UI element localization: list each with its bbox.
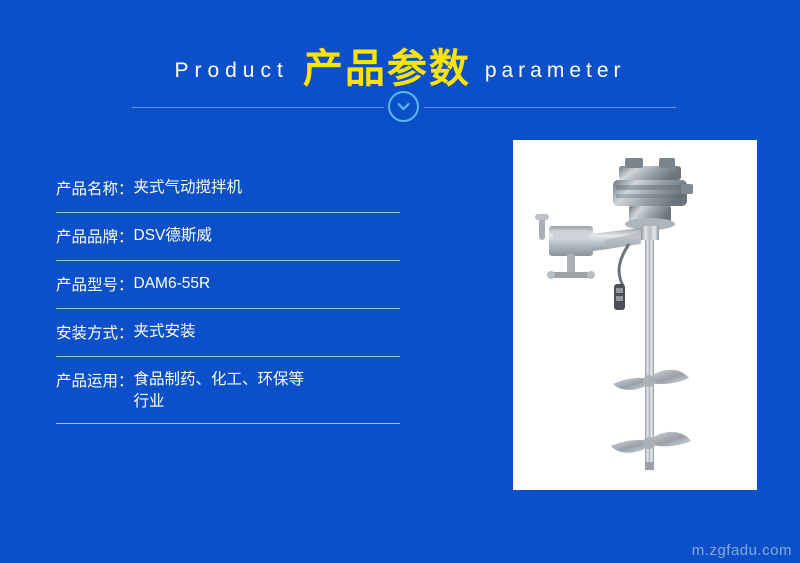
chevron-down-icon (388, 91, 419, 122)
spec-row-installation: 安装方式： 夹式安装 (56, 309, 400, 357)
title-english-suffix: parameter (485, 59, 626, 82)
divider-left (132, 107, 384, 108)
spec-label: 产品品牌： (56, 225, 134, 247)
spec-value: 夹式气动搅拌机 (134, 177, 243, 199)
spec-label: 产品运用： (56, 369, 134, 391)
spec-value-line2: 行业 (134, 393, 165, 410)
product-parameter-page: Product产品参数parameter 产品名称： 夹式气动搅拌机 产品品牌：… (0, 0, 800, 563)
spec-value-line1: 食品制药、化工、环保等 (134, 371, 305, 388)
title-english-prefix: Product (174, 59, 288, 82)
spec-value: 夹式安装 (134, 321, 196, 343)
spec-label: 产品型号： (56, 273, 134, 295)
product-image-panel (513, 140, 757, 490)
page-title: Product产品参数parameter (0, 36, 800, 94)
spec-row-brand: 产品品牌： DSV德斯威 (56, 213, 400, 261)
title-chinese: 产品参数 (303, 47, 471, 91)
spec-value: DAM6-55R (134, 273, 211, 295)
pneumatic-mixer-photo (513, 140, 757, 490)
page-header: Product产品参数parameter (0, 0, 800, 131)
spec-label: 产品名称： (56, 177, 134, 199)
spec-row-product-name: 产品名称： 夹式气动搅拌机 (56, 165, 400, 213)
spec-row-model: 产品型号： DAM6-55R (56, 261, 400, 309)
divider-right (424, 107, 676, 108)
spec-list: 产品名称： 夹式气动搅拌机 产品品牌： DSV德斯威 产品型号： DAM6-55… (56, 165, 400, 424)
spec-value: DSV德斯威 (134, 225, 212, 247)
spec-value: 食品制药、化工、环保等行业 (134, 369, 305, 414)
spec-label: 安装方式： (56, 321, 134, 343)
watermark: m.zgfadu.com (692, 542, 792, 559)
spec-row-application: 产品运用： 食品制药、化工、环保等行业 (56, 357, 400, 424)
